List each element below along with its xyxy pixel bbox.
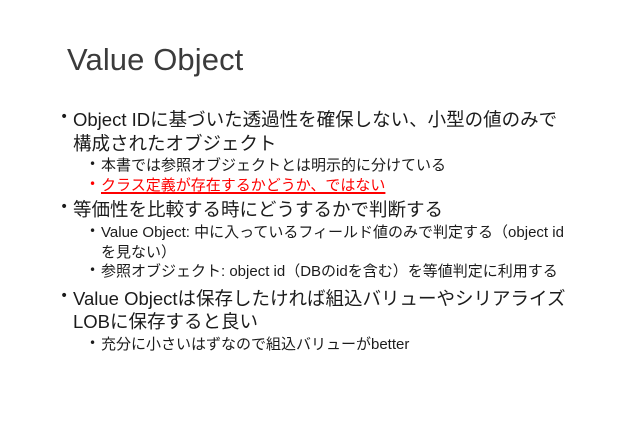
bullet-dot-icon: •: [89, 262, 101, 279]
slide-body-outline: • Object IDに基づいた透過性を確保しない、小型の値のみで構成されたオブ…: [60, 108, 570, 354]
bullet-level2-text: クラス定義が存在するかどうか、ではない: [101, 176, 570, 196]
bullet-level2: • 本書では参照オブジェクトとは明示的に分けている: [89, 156, 570, 176]
bullet-level1-text: 等価性を比較する時にどうするかで判断する: [73, 198, 570, 222]
bullet-level2: • 充分に小さいはずなので組込バリューがbetter: [89, 335, 570, 355]
bullet-level1-text: Value Objectは保存したければ組込バリューやシリアライズLOBに保存す…: [73, 287, 570, 334]
bullet-level1-text: Object IDに基づいた透過性を確保しない、小型の値のみで構成されたオブジェ…: [73, 108, 570, 155]
slide-title: Value Object: [67, 42, 587, 78]
bullet-dot-icon: •: [89, 176, 101, 193]
bullet-dot-icon: •: [89, 223, 101, 240]
bullet-level2-text: 本書では参照オブジェクトとは明示的に分けている: [101, 156, 570, 176]
bullet-level1: • Object IDに基づいた透過性を確保しない、小型の値のみで構成されたオブ…: [60, 108, 570, 155]
bullet-level1: • 等価性を比較する時にどうするかで判断する: [60, 198, 570, 222]
bullet-dot-icon: •: [89, 335, 101, 352]
bullet-dot-icon: •: [89, 156, 101, 173]
bullet-dot-icon: •: [60, 287, 73, 306]
bullet-level2: • Value Object: 中に入っているフィールド値のみで判定する（obj…: [89, 223, 570, 262]
bullet-level2: • 参照オブジェクト: object id（DBのidを含む）を等値判定に利用す…: [89, 262, 570, 282]
bullet-level1: • Value Objectは保存したければ組込バリューやシリアライズLOBに保…: [60, 287, 570, 334]
bullet-dot-icon: •: [60, 108, 73, 127]
bullet-level2-highlighted: • クラス定義が存在するかどうか、ではない: [89, 176, 570, 196]
bullet-level2-text: 充分に小さいはずなので組込バリューがbetter: [101, 335, 570, 355]
bullet-level2-text: Value Object: 中に入っているフィールド値のみで判定する（objec…: [101, 223, 570, 262]
bullet-level2-text: 参照オブジェクト: object id（DBのidを含む）を等値判定に利用する: [101, 262, 570, 282]
presentation-slide: Value Object • Object IDに基づいた透過性を確保しない、小…: [0, 0, 624, 440]
bullet-dot-icon: •: [60, 198, 73, 217]
